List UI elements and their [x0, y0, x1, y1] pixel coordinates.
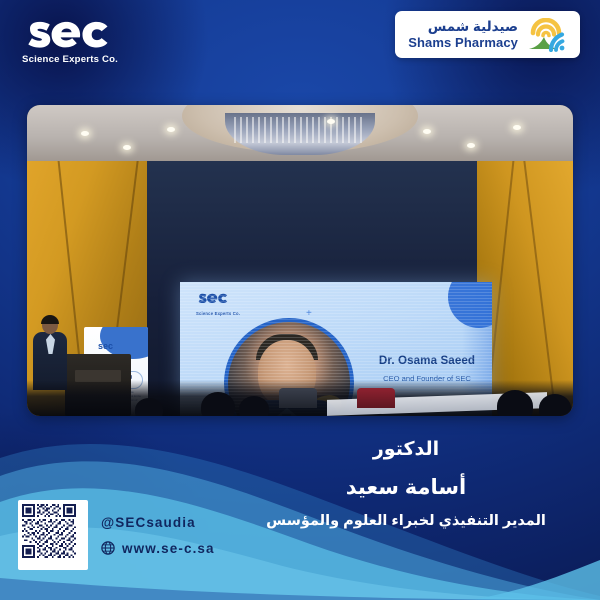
- shams-pharmacy-text: صيدلية شمس Shams Pharmacy: [408, 20, 518, 51]
- qr-code[interactable]: [18, 500, 88, 570]
- caption-block: الدكتور أسامة سعيد المدير التنفيذي لخبرا…: [236, 438, 576, 532]
- portrait-hair: [256, 334, 318, 360]
- globe-icon: [101, 541, 115, 555]
- screen-plus-icon: +: [306, 308, 312, 319]
- ceiling-spotlight: [467, 143, 475, 148]
- header: Science Experts Co. صيدلية شمس Shams Pha…: [0, 0, 600, 92]
- screen-sec-logo: Science Experts Co.: [196, 292, 240, 316]
- sec-logo: Science Experts Co.: [22, 17, 142, 65]
- ceiling-spotlight: [167, 127, 175, 132]
- sec-tagline: Science Experts Co.: [22, 54, 142, 65]
- live-speaker: [33, 316, 67, 390]
- screen-speaker-name: Dr. Osama Saeed: [365, 354, 489, 367]
- shams-pharmacy-name-en: Shams Pharmacy: [408, 36, 518, 50]
- audience-chair: [279, 388, 317, 408]
- shams-pharmacy-name-ar: صيدلية شمس: [408, 20, 518, 35]
- audience-chair: [357, 388, 395, 408]
- screen-corner-circle: [448, 282, 492, 328]
- ceiling-spotlight: [423, 129, 431, 134]
- contact-block: @SECsaudia www.se-c.sa: [18, 500, 215, 570]
- social-handle-row[interactable]: @SECsaudia: [101, 515, 215, 530]
- speaker-hair: [41, 315, 59, 324]
- ceiling-spotlight: [81, 131, 89, 136]
- ceiling-spotlight: [327, 119, 335, 124]
- contact-lines: @SECsaudia www.se-c.sa: [101, 515, 215, 556]
- shams-arc-icon: [527, 18, 569, 52]
- caption-line-3: المدير التنفيذي لخبراء العلوم والمؤسس: [236, 512, 576, 532]
- ceiling-spotlight: [123, 145, 131, 150]
- screen-sec-wordmark-icon: [196, 292, 240, 305]
- sec-wordmark-icon: [22, 17, 142, 53]
- social-handle-text: @SECsaudia: [101, 515, 196, 530]
- website-row[interactable]: www.se-c.sa: [101, 541, 215, 556]
- shams-pharmacy-logo: صيدلية شمس Shams Pharmacy: [395, 11, 580, 58]
- caption-line-1: الدكتور: [236, 438, 576, 462]
- website-text: www.se-c.sa: [122, 541, 215, 556]
- social-post-card: Science Experts Co. صيدلية شمس Shams Pha…: [0, 0, 600, 600]
- ceiling-spotlight: [513, 125, 521, 130]
- qr-code-icon: [22, 504, 76, 558]
- screen-sec-tagline: Science Experts Co.: [196, 311, 240, 316]
- banner-sec-logo: sec: [98, 341, 113, 351]
- event-photo: Science Experts Co. Dr. Osama Saeed CEO …: [27, 105, 573, 416]
- caption-line-2: أسامة سعيد: [236, 474, 576, 501]
